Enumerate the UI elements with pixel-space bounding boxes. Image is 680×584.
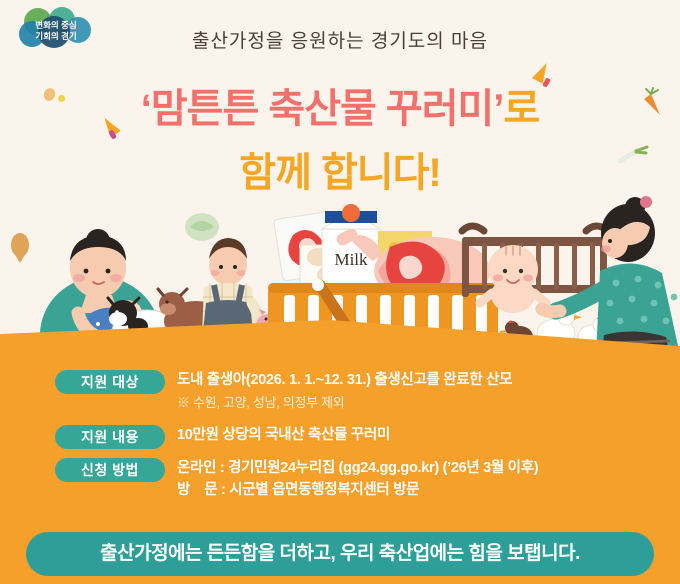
green-onion-icon: [616, 145, 650, 170]
info-row-label-apply: 신청 방법: [55, 458, 165, 482]
carrot-icon: [640, 85, 666, 122]
info-row-body-apply: 온라인 : 경기민원24누리집 (gg24.gg.go.kr) (’26년 3월…: [177, 458, 647, 501]
info-row-note-target: ※ 수원, 고양, 성남, 의정부 제외: [177, 393, 647, 413]
info-row-sub-apply: 방 문 : 시군별 읍면동행정복지센터 방문: [177, 480, 647, 501]
title-suffix-text: 로: [503, 87, 539, 131]
title-main-text: ‘맘튼튼 축산물 꾸러미’: [141, 87, 504, 131]
info-row-main-content: 10만원 상당의 국내산 축산물 꾸러미: [177, 425, 647, 445]
milk-carton-label: Milk: [334, 250, 368, 269]
poster-subtitle: 출산가정을 응원하는 경기도의 마음: [0, 26, 680, 53]
balloon-icon: [11, 233, 29, 263]
info-row-main-apply[interactable]: 온라인 : 경기민원24누리집 (gg24.gg.go.kr) (’26년 3월…: [177, 458, 647, 478]
bottom-banner: 출산가정에는 든든함을 더하고, 우리 축산업에는 힘을 보탭니다.: [26, 532, 654, 576]
info-row-main-target: 도내 출생아(2026. 1. 1.~12. 31.) 출생신고를 완료한 산모: [177, 370, 647, 390]
cabbage-icon: [185, 213, 219, 241]
info-row-label-target: 지원 대상: [55, 370, 165, 394]
poster-root: 변화의 중심 기회의 경기 출산가정을 응원하는 경기도의 마음 ‘맘튼튼 축산…: [0, 0, 680, 584]
info-panel: 지원 대상 도내 출생아(2026. 1. 1.~12. 31.) 출생신고를 …: [0, 360, 680, 525]
confetti-dot-small-icon: [58, 95, 65, 102]
info-row-body-content: 10만원 상당의 국내산 축산물 꾸러미: [177, 425, 647, 445]
info-row-body-target: 도내 출생아(2026. 1. 1.~12. 31.) 출생신고를 완료한 산모…: [177, 370, 647, 413]
info-row-label-content: 지원 내용: [55, 425, 165, 449]
